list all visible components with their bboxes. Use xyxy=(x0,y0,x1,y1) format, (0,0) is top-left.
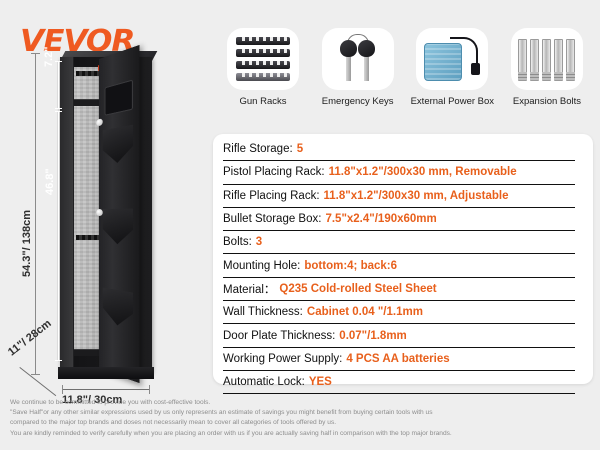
dimension-label-interior-main: 46.8" xyxy=(44,168,56,195)
key-head xyxy=(340,40,357,57)
spec-value: 0.07"/1.8mm xyxy=(339,330,406,342)
bolt xyxy=(554,39,563,81)
spec-value: Cabinet 0.04 "/1.1mm xyxy=(307,306,423,318)
rack-bar xyxy=(236,61,290,69)
spec-label: Material： xyxy=(223,281,275,297)
product-image-with-dimensions: 7.2" 46.8" 54.3"/ 138cm 11.8"/ 30cm 11"/… xyxy=(0,45,215,395)
accessory-card xyxy=(322,28,394,90)
spec-row: Mounting Hole: bottom:4; back:6 xyxy=(223,254,575,277)
accessory-label: Emergency Keys xyxy=(322,96,394,107)
bolt xyxy=(542,39,551,81)
accessory-card xyxy=(511,28,583,90)
rack-bar xyxy=(236,73,290,81)
locking-bolt xyxy=(96,209,103,216)
door-pouch xyxy=(103,125,133,165)
dimension-cap xyxy=(31,53,40,54)
spec-row: Pistol Placing Rack: 11.8"x1.2"/300x30 m… xyxy=(223,161,575,184)
dimension-line-width xyxy=(62,389,150,390)
dimension-cap xyxy=(31,374,40,375)
dimension-label-depth: 11"/ 28cm xyxy=(6,318,54,359)
specifications-table: Rifle Storage: 5 Pistol Placing Rack: 11… xyxy=(223,138,575,394)
door-pouch xyxy=(103,209,133,246)
safe-base xyxy=(58,367,154,379)
dimension-line-main-interior xyxy=(58,111,59,361)
disclaimer-line: "Save Half"or any other similar expressi… xyxy=(10,408,595,418)
accessory-label: External Power Box xyxy=(411,96,494,107)
dimension-line-depth xyxy=(19,367,56,396)
key xyxy=(358,40,375,80)
dimension-cap xyxy=(55,111,62,112)
accessory-card xyxy=(416,28,488,90)
disclaimer-line: We continue to be committed to provide y… xyxy=(10,398,595,408)
accessory-external-power-box: External Power Box xyxy=(407,28,497,128)
spec-value: bottom:4; back:6 xyxy=(304,260,397,272)
spec-row: Wall Thickness: Cabinet 0.04 "/1.1mm xyxy=(223,301,575,324)
rack-bar xyxy=(236,37,290,45)
rack-bar xyxy=(236,49,290,57)
spec-value: 5 xyxy=(297,143,303,155)
dimension-line-top-interior xyxy=(58,61,59,109)
dimension-label-interior-top: 7.2" xyxy=(43,46,55,67)
locking-bolt xyxy=(96,118,103,126)
spec-label: Mounting Hole: xyxy=(223,260,300,272)
expansion-bolts-icon xyxy=(518,37,575,81)
spec-value: 11.8"x1.2"/300x30 mm, Removable xyxy=(329,166,517,178)
spec-label: Automatic Lock: xyxy=(223,376,305,388)
spec-value: 4 PCS AA batteries xyxy=(346,353,449,365)
key-blade xyxy=(364,57,369,81)
key-blade xyxy=(346,57,351,81)
door-pouch xyxy=(103,288,133,330)
accessory-emergency-keys: Emergency Keys xyxy=(313,28,403,128)
accessory-label: Expansion Bolts xyxy=(513,96,581,107)
keys-icon xyxy=(335,34,381,84)
disclaimer-line: You are kindly reminded to verify carefu… xyxy=(10,429,595,439)
safe-door xyxy=(99,45,139,383)
spec-row: Rifle Placing Rack: 11.8"x1.2"/300x30 mm… xyxy=(223,185,575,208)
bolt xyxy=(518,39,527,81)
spec-value: YES xyxy=(309,376,332,388)
spec-row: Working Power Supply: 4 PCS AA batteries xyxy=(223,348,575,371)
dimension-cap xyxy=(149,385,150,394)
dimension-cap xyxy=(55,108,62,109)
dimension-label-total-height: 54.3"/ 138cm xyxy=(21,210,33,277)
spec-label: Bullet Storage Box: xyxy=(223,213,321,225)
accessory-card xyxy=(227,28,299,90)
spec-row: Door Plate Thickness: 0.07"/1.8mm xyxy=(223,324,575,347)
disclaimer-line: compared to the major top brands and dos… xyxy=(10,418,595,428)
spec-label: Rifle Placing Rack: xyxy=(223,190,320,202)
spec-label: Bolts: xyxy=(223,236,252,248)
dimension-cap xyxy=(62,385,63,394)
spec-value: 11.8"x1.2"/300x30 mm, Adjustable xyxy=(324,190,509,202)
accessories-row: Gun Racks Emergency Keys xyxy=(218,28,592,128)
accessory-expansion-bolts: Expansion Bolts xyxy=(502,28,592,128)
bolt xyxy=(530,39,539,81)
spec-label: Rifle Storage: xyxy=(223,143,293,155)
bolt xyxy=(566,39,575,81)
accessory-gun-racks: Gun Racks xyxy=(218,28,308,128)
spec-label: Wall Thickness: xyxy=(223,306,303,318)
power-box-icon xyxy=(424,37,480,81)
spec-row: Material： Q235 Cold-rolled Steel Sheet xyxy=(223,278,575,301)
dimension-cap xyxy=(55,61,62,62)
spec-label: Pistol Placing Rack: xyxy=(223,166,325,178)
spec-row: Rifle Storage: 5 xyxy=(223,138,575,161)
door-pocket xyxy=(105,79,133,115)
specifications-panel: Rifle Storage: 5 Pistol Placing Rack: 11… xyxy=(213,134,593,384)
spec-row: Automatic Lock: YES xyxy=(223,371,575,394)
spec-label: Working Power Supply: xyxy=(223,353,342,365)
spec-value: 3 xyxy=(256,236,262,248)
spec-row: Bolts: 3 xyxy=(223,231,575,254)
power-plug xyxy=(471,63,480,75)
spec-value: Q235 Cold-rolled Steel Sheet xyxy=(279,283,436,295)
accessory-label: Gun Racks xyxy=(240,96,287,107)
spec-row: Bullet Storage Box: 7.5"x2.4"/190x60mm xyxy=(223,208,575,231)
spec-label: Door Plate Thickness: xyxy=(223,330,335,342)
gun-racks-icon xyxy=(236,37,290,81)
key-head xyxy=(358,40,375,57)
disclaimer-text: We continue to be committed to provide y… xyxy=(10,398,595,439)
dimension-cap xyxy=(55,360,62,361)
key xyxy=(340,40,357,80)
spec-value: 7.5"x2.4"/190x60mm xyxy=(325,213,436,225)
